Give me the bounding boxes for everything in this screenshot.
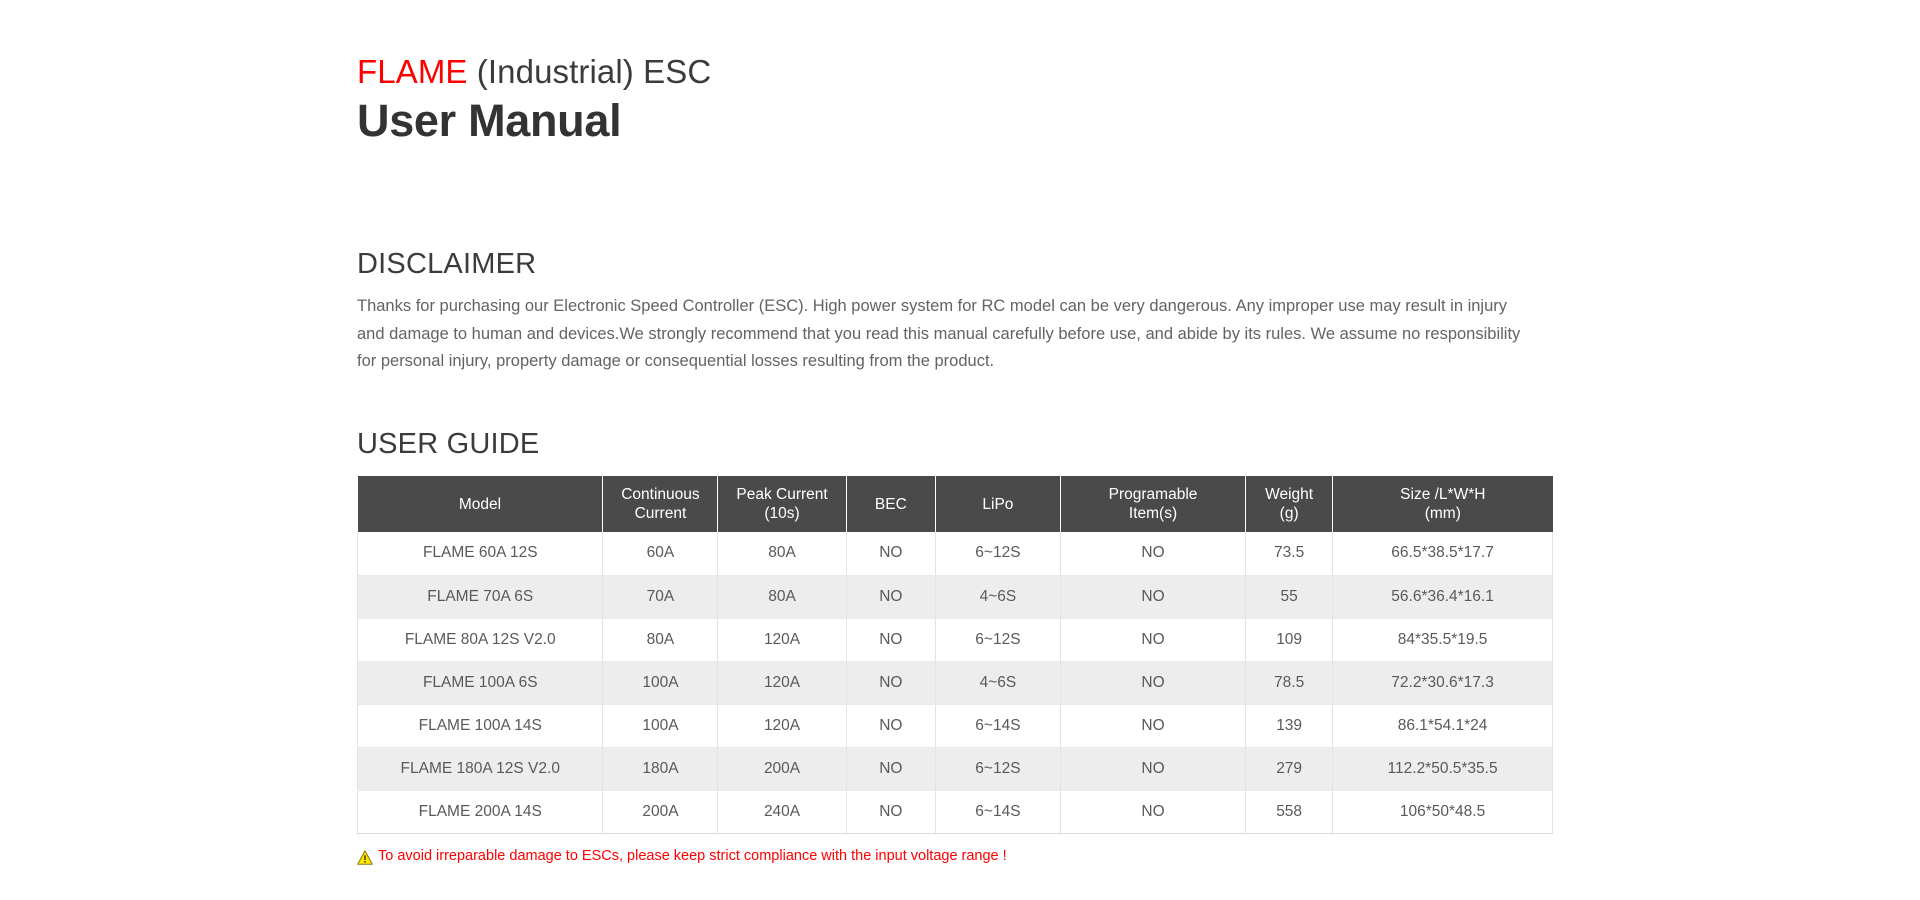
cell-programable-items: NO — [1060, 704, 1245, 747]
cell-bec: NO — [846, 532, 935, 575]
header-line-2: (g) — [1250, 504, 1328, 523]
disclaimer-heading: DISCLAIMER — [357, 246, 536, 282]
cell-model: FLAME 200A 14S — [358, 790, 603, 833]
cell-lipo: 6~12S — [935, 618, 1060, 661]
cell-continuous-current: 100A — [603, 661, 718, 704]
cell-size: 56.6*36.4*16.1 — [1333, 575, 1553, 618]
spec-table-body: FLAME 60A 12S60A80ANO6~12SNO73.566.5*38.… — [358, 532, 1553, 833]
column-header-weight: Weight (g) — [1246, 476, 1333, 532]
cell-weight: 73.5 — [1246, 532, 1333, 575]
cell-model: FLAME 100A 6S — [358, 661, 603, 704]
header-line-2: Current — [607, 504, 713, 523]
cell-programable-items: NO — [1060, 575, 1245, 618]
cell-continuous-current: 60A — [603, 532, 718, 575]
cell-bec: NO — [846, 790, 935, 833]
cell-continuous-current: 70A — [603, 575, 718, 618]
header-line-1: LiPo — [940, 495, 1056, 514]
cell-continuous-current: 100A — [603, 704, 718, 747]
cell-programable-items: NO — [1060, 790, 1245, 833]
table-header-row: Model Continuous Current Peak Current (1… — [358, 476, 1553, 532]
page-title: FLAME (Industrial) ESC — [357, 52, 711, 92]
esc-spec-table: Model Continuous Current Peak Current (1… — [357, 476, 1553, 834]
cell-weight: 109 — [1246, 618, 1333, 661]
spec-table-head: Model Continuous Current Peak Current (1… — [358, 476, 1553, 532]
document-title-block: FLAME (Industrial) ESC User Manual — [357, 52, 711, 149]
disclaimer-paragraph: Thanks for purchasing our Electronic Spe… — [357, 293, 1539, 376]
header-line-1: Weight — [1250, 485, 1328, 504]
cell-model: FLAME 180A 12S V2.0 — [358, 747, 603, 790]
cell-size: 72.2*30.6*17.3 — [1333, 661, 1553, 704]
table-row: FLAME 180A 12S V2.0180A200ANO6~12SNO2791… — [358, 747, 1553, 790]
header-line-2: Item(s) — [1065, 504, 1241, 523]
brand-name: FLAME — [357, 53, 468, 90]
user-guide-heading: USER GUIDE — [357, 426, 539, 462]
cell-size: 66.5*38.5*17.7 — [1333, 532, 1553, 575]
cell-size: 84*35.5*19.5 — [1333, 618, 1553, 661]
cell-lipo: 6~14S — [935, 790, 1060, 833]
table-row: FLAME 100A 6S100A120ANO4~6SNO78.572.2*30… — [358, 661, 1553, 704]
cell-weight: 558 — [1246, 790, 1333, 833]
cell-bec: NO — [846, 661, 935, 704]
cell-bec: NO — [846, 704, 935, 747]
voltage-warning-note: To avoid irreparable damage to ESCs, ple… — [357, 846, 1007, 866]
cell-size: 86.1*54.1*24 — [1333, 704, 1553, 747]
cell-programable-items: NO — [1060, 618, 1245, 661]
warning-triangle-icon — [357, 850, 373, 865]
cell-weight: 78.5 — [1246, 661, 1333, 704]
cell-lipo: 4~6S — [935, 661, 1060, 704]
cell-peak-current: 80A — [718, 532, 846, 575]
cell-weight: 139 — [1246, 704, 1333, 747]
header-line-1: Continuous — [607, 485, 713, 504]
table-row: FLAME 200A 14S200A240ANO6~14SNO558106*50… — [358, 790, 1553, 833]
table-row: FLAME 60A 12S60A80ANO6~12SNO73.566.5*38.… — [358, 532, 1553, 575]
table-row: FLAME 80A 12S V2.080A120ANO6~12SNO10984*… — [358, 618, 1553, 661]
cell-lipo: 6~12S — [935, 532, 1060, 575]
cell-lipo: 6~12S — [935, 747, 1060, 790]
column-header-bec: BEC — [846, 476, 935, 532]
cell-bec: NO — [846, 575, 935, 618]
header-line-2: (10s) — [722, 504, 841, 523]
table-row: FLAME 100A 14S100A120ANO6~14SNO13986.1*5… — [358, 704, 1553, 747]
cell-size: 106*50*48.5 — [1333, 790, 1553, 833]
title-suffix: (Industrial) ESC — [468, 53, 712, 90]
header-line-1: Peak Current — [722, 485, 841, 504]
header-line-1: Size /L*W*H — [1337, 485, 1548, 504]
cell-peak-current: 120A — [718, 661, 846, 704]
cell-programable-items: NO — [1060, 747, 1245, 790]
cell-continuous-current: 180A — [603, 747, 718, 790]
cell-model: FLAME 70A 6S — [358, 575, 603, 618]
cell-continuous-current: 80A — [603, 618, 718, 661]
column-header-model: Model — [358, 476, 603, 532]
cell-weight: 279 — [1246, 747, 1333, 790]
cell-model: FLAME 100A 14S — [358, 704, 603, 747]
header-line-1: Model — [362, 495, 599, 514]
cell-lipo: 6~14S — [935, 704, 1060, 747]
cell-model: FLAME 80A 12S V2.0 — [358, 618, 603, 661]
cell-peak-current: 120A — [718, 618, 846, 661]
column-header-lipo: LiPo — [935, 476, 1060, 532]
cell-programable-items: NO — [1060, 661, 1245, 704]
cell-weight: 55 — [1246, 575, 1333, 618]
column-header-continuous-current: Continuous Current — [603, 476, 718, 532]
header-line-1: Programable — [1065, 485, 1241, 504]
header-line-2: (mm) — [1337, 504, 1548, 523]
warning-text: To avoid irreparable damage to ESCs, ple… — [378, 846, 1007, 866]
cell-continuous-current: 200A — [603, 790, 718, 833]
cell-lipo: 4~6S — [935, 575, 1060, 618]
column-header-programable-items: Programable Item(s) — [1060, 476, 1245, 532]
cell-peak-current: 240A — [718, 790, 846, 833]
cell-peak-current: 200A — [718, 747, 846, 790]
spec-table-wrapper: Model Continuous Current Peak Current (1… — [357, 476, 1553, 834]
table-row: FLAME 70A 6S70A80ANO4~6SNO5556.6*36.4*16… — [358, 575, 1553, 618]
cell-peak-current: 120A — [718, 704, 846, 747]
cell-bec: NO — [846, 618, 935, 661]
manual-page: FLAME (Industrial) ESC User Manual DISCL… — [0, 0, 1920, 900]
cell-peak-current: 80A — [718, 575, 846, 618]
cell-size: 112.2*50.5*35.5 — [1333, 747, 1553, 790]
cell-bec: NO — [846, 747, 935, 790]
header-line-1: BEC — [851, 495, 931, 514]
column-header-size: Size /L*W*H (mm) — [1333, 476, 1553, 532]
column-header-peak-current: Peak Current (10s) — [718, 476, 846, 532]
cell-model: FLAME 60A 12S — [358, 532, 603, 575]
cell-programable-items: NO — [1060, 532, 1245, 575]
document-subtitle: User Manual — [357, 93, 711, 149]
